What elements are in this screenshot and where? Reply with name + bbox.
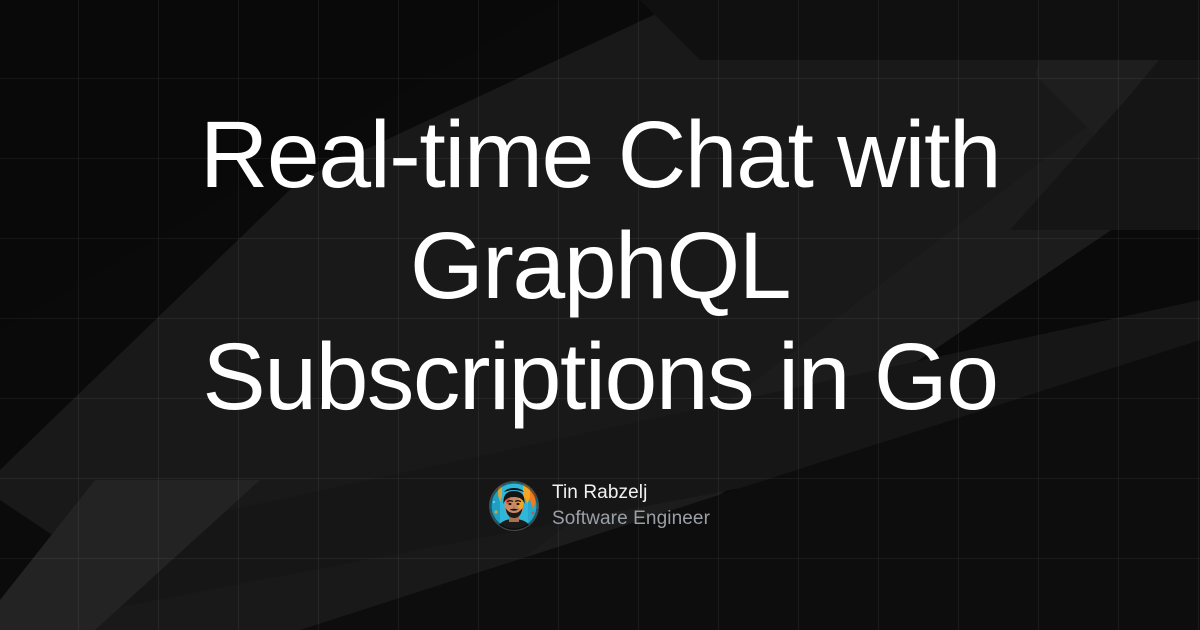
page-title: Real-time Chat with GraphQL Subscription… [185, 100, 1015, 433]
avatar [490, 482, 538, 530]
author-row: Tin Rabzelj Software Engineer [490, 481, 710, 531]
og-card: Real-time Chat with GraphQL Subscription… [0, 0, 1200, 630]
author-name: Tin Rabzelj [552, 481, 710, 505]
author-role: Software Engineer [552, 507, 710, 531]
avatar-icon [490, 482, 538, 530]
author-text: Tin Rabzelj Software Engineer [552, 481, 710, 531]
card-content: Real-time Chat with GraphQL Subscription… [0, 0, 1200, 630]
